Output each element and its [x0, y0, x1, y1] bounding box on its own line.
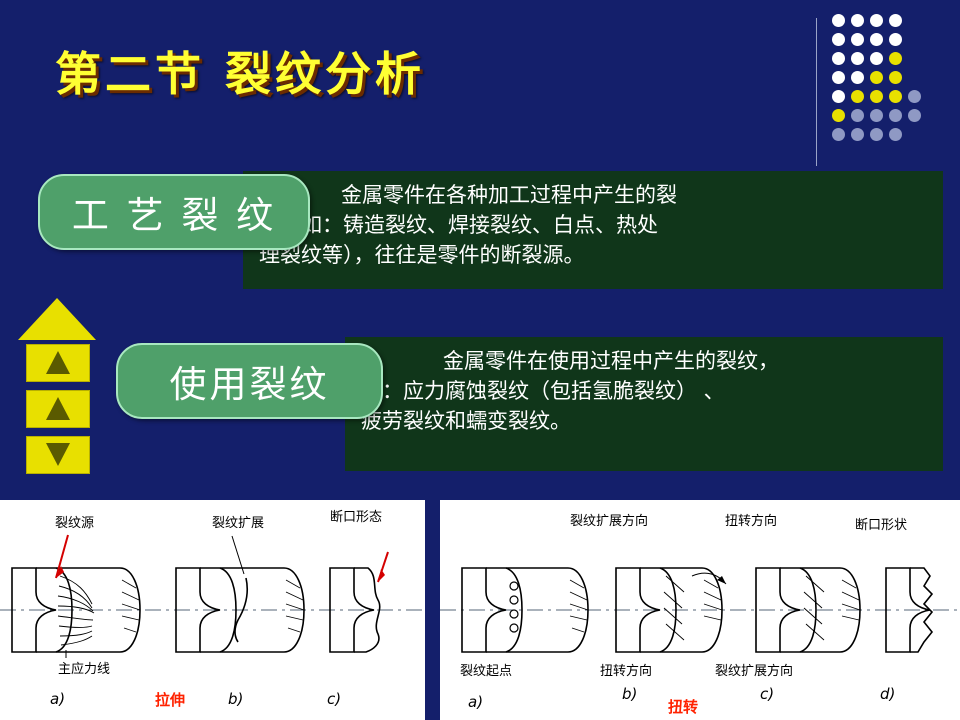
service-crack-line-2: 如：应力腐蚀裂纹（包括氢脆裂纹） 、 [361, 379, 725, 403]
page-title: 第二节 裂纹分析 [55, 38, 425, 104]
process-crack-line-2: 纹（如：铸造裂纹、焊接裂纹、白点、热处 [259, 213, 658, 237]
right-fig-label-crack-origin: 裂纹起点 [460, 660, 512, 679]
decorative-dot [870, 90, 883, 103]
decorative-dot [851, 52, 864, 65]
tension-fracture-figure: 裂纹源 裂纹扩展 断口形态 主应力线 a) 拉伸 b) c) [0, 500, 425, 720]
decorative-dot [889, 109, 902, 122]
decorative-dot [851, 14, 864, 27]
service-crack-line-3: 疲劳裂纹和蠕变裂纹。 [361, 409, 571, 433]
decorative-dot [889, 128, 902, 141]
right-fig-label-c: c) [760, 685, 774, 703]
decorative-dot [832, 128, 845, 141]
service-crack-panel: 金属零件在使用过程中产生的裂纹， 如：应力腐蚀裂纹（包括氢脆裂纹） 、 疲劳裂纹… [345, 337, 943, 471]
right-fig-label-a: a) [468, 693, 483, 711]
decorative-dot [889, 33, 902, 46]
arrow-up-icon [18, 298, 96, 340]
right-fig-label-b: b) [622, 685, 637, 703]
decorative-dot [851, 109, 864, 122]
decorative-dot [908, 109, 921, 122]
decorative-dot [832, 71, 845, 84]
process-crack-pill[interactable]: 工 艺 裂 纹 [38, 174, 310, 250]
arrow-up-box-icon-2 [26, 390, 90, 428]
right-fig-label-fracture-shape: 断口形状 [855, 514, 907, 533]
decorative-dot [851, 128, 864, 141]
torsion-fracture-figure: 裂纹扩展方向 扭转方向 断口形状 裂纹起点 扭转方向 裂纹扩展方向 a) b) … [440, 500, 960, 720]
decorative-dot [870, 109, 883, 122]
decorative-dot [870, 128, 883, 141]
left-fig-label-tension: 拉伸 [155, 689, 185, 710]
right-fig-label-d: d) [880, 685, 895, 703]
decorative-dot [851, 90, 864, 103]
process-crack-panel: 金属零件在各种加工过程中产生的裂 纹（如：铸造裂纹、焊接裂纹、白点、热处 理裂纹… [243, 171, 943, 289]
decorative-dot [908, 90, 921, 103]
decorative-dot [832, 52, 845, 65]
service-crack-line-1: 金属零件在使用过程中产生的裂纹， [361, 347, 929, 377]
right-fig-label-torsion: 扭转 [668, 696, 698, 717]
decorative-dot [832, 14, 845, 27]
decorative-dot [851, 71, 864, 84]
decorative-dot [832, 90, 845, 103]
left-fig-label-crack-source: 裂纹源 [55, 512, 94, 531]
decorative-dot [889, 71, 902, 84]
arrow-indicator-column [18, 298, 96, 503]
right-fig-label-growth-dir: 裂纹扩展方向 [570, 510, 648, 529]
process-crack-line-1: 金属零件在各种加工过程中产生的裂 [259, 181, 929, 211]
decorative-dot [889, 52, 902, 65]
decorative-dot [870, 14, 883, 27]
arrow-down-box-icon [26, 436, 90, 474]
right-fig-label-torsion-dir: 扭转方向 [725, 510, 777, 529]
decorative-dot [889, 90, 902, 103]
tension-figure-svg [0, 500, 425, 720]
decorative-dot-grid [832, 14, 942, 149]
left-fig-label-fracture-morph: 断口形态 [330, 506, 382, 525]
decorative-dot [870, 52, 883, 65]
left-fig-label-c: c) [327, 690, 341, 708]
decorative-dot [832, 109, 845, 122]
decorative-dot [851, 33, 864, 46]
left-fig-label-principal-stress: 主应力线 [58, 658, 110, 677]
arrow-up-box-icon [26, 344, 90, 382]
decorative-dot [870, 33, 883, 46]
service-crack-pill[interactable]: 使用裂纹 [116, 343, 383, 419]
right-fig-label-torsion-dir-2: 扭转方向 [600, 660, 652, 679]
decorative-dot [832, 33, 845, 46]
vertical-divider [816, 18, 817, 166]
decorative-dot [870, 71, 883, 84]
left-fig-label-a: a) [50, 690, 65, 708]
decorative-dot [889, 14, 902, 27]
right-fig-label-growth-dir-2: 裂纹扩展方向 [715, 660, 793, 679]
left-fig-label-crack-growth: 裂纹扩展 [212, 512, 264, 531]
process-crack-line-3: 理裂纹等），往往是零件的断裂源。 [259, 243, 585, 267]
left-fig-label-b: b) [228, 690, 243, 708]
